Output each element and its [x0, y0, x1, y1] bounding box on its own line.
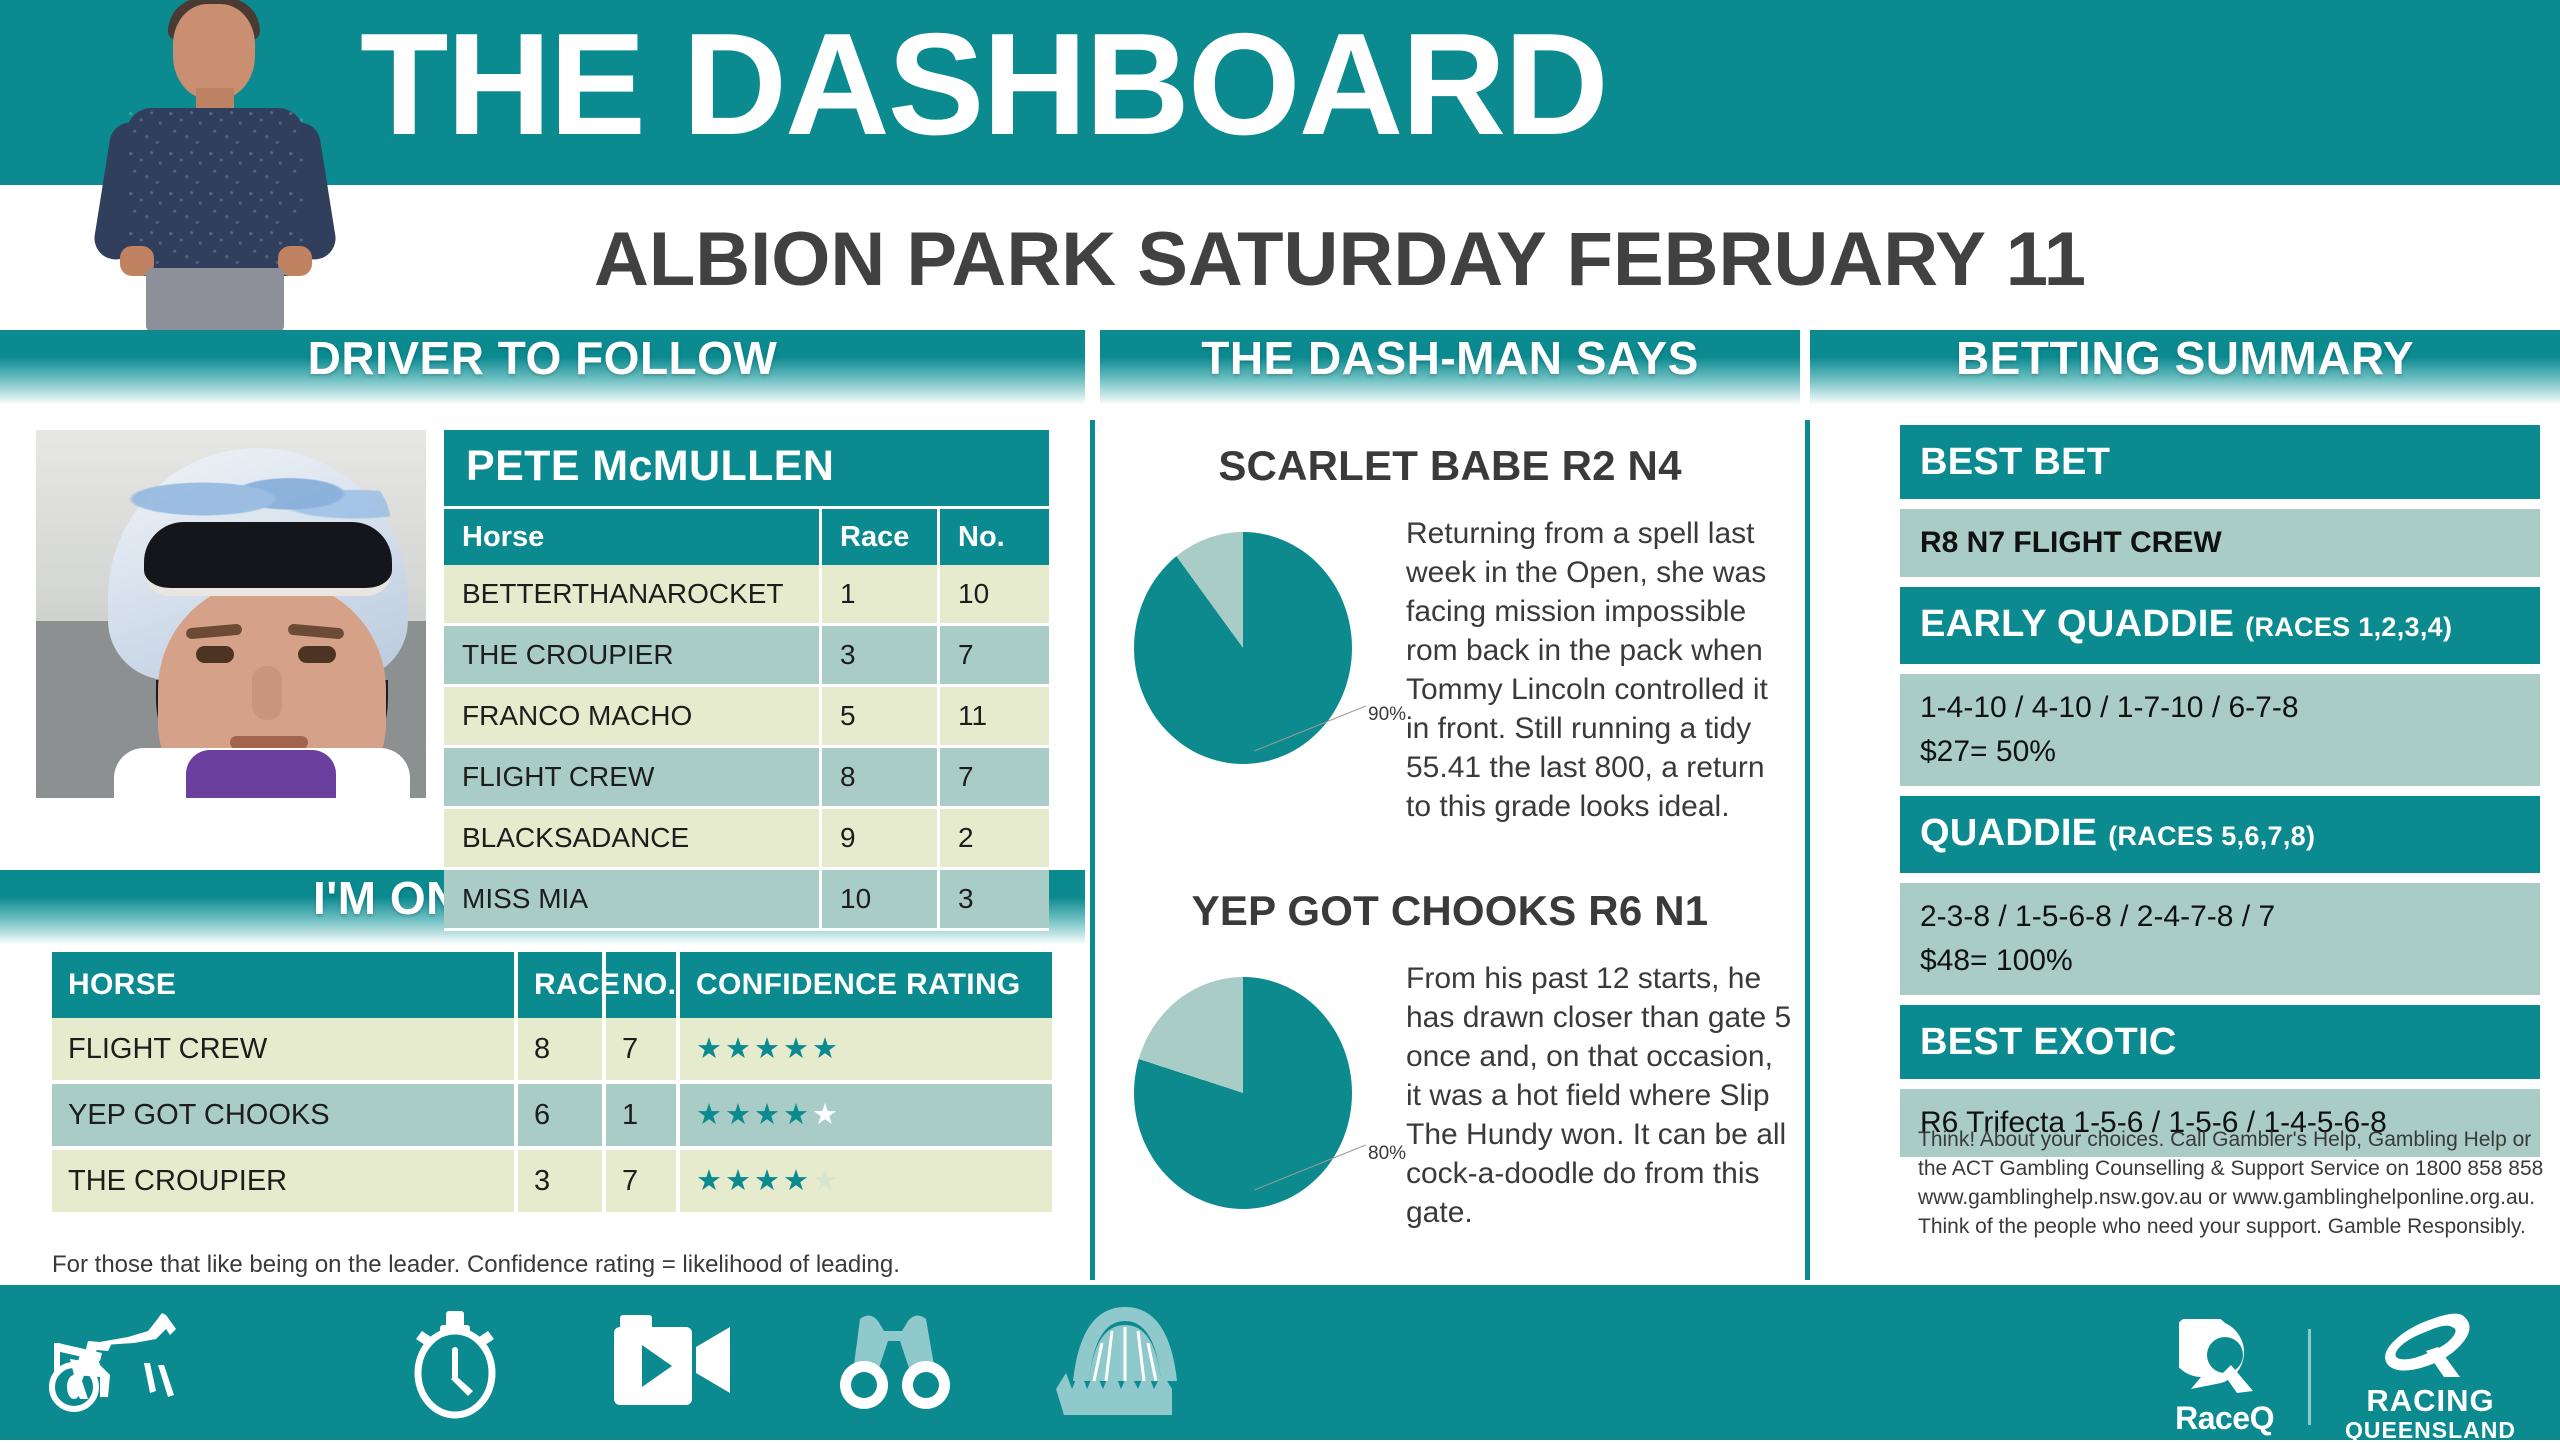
driver-table: PETE McMULLEN Horse Race No. BETTERTHANA…	[444, 430, 1049, 931]
cell-horse: FLIGHT CREW	[444, 748, 819, 809]
betting-list: BEST BET R8 N7 FLIGHT CREW EARLY QUADDIE…	[1900, 425, 2540, 1157]
cell-horse: BLACKSADANCE	[444, 809, 819, 870]
table-row: YEP GOT CHOOKS 6 1 ★★★★★	[52, 1084, 1052, 1150]
pie-percent-label: 90%	[1368, 704, 1406, 726]
footer-logos: RaceQ RACING QUEENSLAND	[2175, 1311, 2516, 1443]
driver-col-no: No.	[937, 509, 1049, 565]
racing-label: RACING	[2366, 1385, 2494, 1417]
tip-title: SCARLET BABE R2 N4	[1100, 440, 1800, 492]
cell-no: 3	[937, 870, 1049, 931]
best-exotic-heading: BEST EXOTIC	[1900, 1005, 2540, 1079]
table-row: FLIGHT CREW 8 7 ★★★★★	[52, 1018, 1052, 1084]
confidence-stars: ★★★★★	[676, 1018, 1052, 1084]
table-row: MISS MIA 10 3	[444, 870, 1049, 931]
dashboard-page: THE DASHBOARD ALBION PARK SATURDAY FEBRU…	[0, 0, 2560, 1440]
early-quaddie-races: (RACES 1,2,3,4)	[2245, 612, 2452, 642]
pie-chart-scarlet-babe: 90%	[1100, 514, 1400, 784]
pie-slice-group	[1134, 532, 1352, 764]
spacer	[1900, 499, 2540, 509]
harness-horse-icon[interactable]	[48, 1307, 208, 1422]
spacer	[1900, 786, 2540, 796]
driver-table-header: Horse Race No.	[444, 506, 1049, 565]
early-quaddie-value: 1-4-10 / 4-10 / 1-7-10 / 6-7-8 $27= 50%	[1900, 674, 2540, 786]
logo-divider	[2308, 1329, 2311, 1425]
presenter-head	[173, 4, 255, 100]
racing-queensland-logo[interactable]: RACING QUEENSLAND	[2345, 1311, 2516, 1443]
cell-race: 9	[819, 809, 937, 870]
queensland-label: QUEENSLAND	[2345, 1417, 2516, 1443]
cell-horse: FLIGHT CREW	[52, 1018, 514, 1084]
driver-col-race: Race	[819, 509, 937, 565]
leader-col-confidence: CONFIDENCE RATING	[676, 952, 1052, 1018]
cell-race: 3	[819, 626, 937, 687]
driver-silks	[186, 750, 336, 798]
cell-horse: FRANCO MACHO	[444, 687, 819, 748]
cell-race: 1	[819, 565, 937, 626]
spacer	[1900, 1079, 2540, 1089]
tip-body: 90% Returning from a spell last week in …	[1100, 514, 1800, 826]
cell-horse: BETTERTHANAROCKET	[444, 565, 819, 626]
early-quaddie-label: EARLY QUADDIE	[1920, 603, 2234, 645]
driver-nose	[252, 666, 282, 720]
cell-horse: MISS MIA	[444, 870, 819, 931]
tip-body: 80% From his past 12 starts, he has draw…	[1100, 959, 1800, 1232]
left-column: PETE McMULLEN Horse Race No. BETTERTHANA…	[0, 330, 1085, 1280]
pie-chart-yep-got-chooks: 80%	[1100, 959, 1400, 1229]
table-row: BETTERTHANAROCKET 1 10	[444, 565, 1049, 626]
grandstand-icon[interactable]	[1050, 1303, 1200, 1424]
raceq-label: RaceQ	[2175, 1401, 2274, 1435]
cell-race: 10	[819, 870, 937, 931]
early-quaddie-line2: $27= 50%	[1920, 730, 2540, 774]
leader-col-horse: HORSE	[52, 952, 514, 1018]
betting-summary-column: BEST BET R8 N7 FLIGHT CREW EARLY QUADDIE…	[1900, 330, 2560, 1280]
spacer	[1900, 995, 2540, 1005]
masthead: THE DASHBOARD	[0, 0, 2560, 185]
presenter-legs	[146, 268, 284, 330]
cell-no: 10	[937, 565, 1049, 626]
stopwatch-icon[interactable]	[400, 1307, 510, 1424]
leader-note: For those that like being on the leader.…	[52, 1248, 1052, 1282]
driver-name: PETE McMULLEN	[444, 430, 1049, 506]
cell-no: 7	[937, 748, 1049, 809]
tip-block-2: YEP GOT CHOOKS R6 N1 80% From his past 1…	[1100, 885, 1800, 1232]
footer-bar: RaceQ RACING QUEENSLAND	[0, 1285, 2560, 1440]
tip-block-1: SCARLET BABE R2 N4 90% Returning from a …	[1100, 440, 1800, 826]
confidence-stars: ★★★★★	[676, 1084, 1052, 1150]
driver-col-horse: Horse	[444, 509, 819, 565]
cell-race: 8	[514, 1018, 602, 1084]
cell-no: 7	[602, 1150, 676, 1216]
pie-slice-group	[1134, 977, 1352, 1209]
leader-col-no: NO.	[602, 952, 676, 1018]
column-divider-right	[1805, 420, 1810, 1280]
spacer	[1900, 664, 2540, 674]
cell-horse: THE CROUPIER	[52, 1150, 514, 1216]
binoculars-icon[interactable]	[830, 1313, 960, 1418]
quaddie-value: 2-3-8 / 1-5-6-8 / 2-4-7-8 / 7 $48= 100%	[1900, 883, 2540, 995]
presenter-torso	[126, 108, 304, 276]
spacer	[1900, 577, 2540, 587]
best-bet-value: R8 N7 FLIGHT CREW	[1900, 509, 2540, 577]
quaddie-label: QUADDIE	[1920, 812, 2097, 854]
quaddie-line1: 2-3-8 / 1-5-6-8 / 2-4-7-8 / 7	[1920, 895, 2540, 939]
cell-race: 5	[819, 687, 937, 748]
quaddie-races: (RACES 5,6,7,8)	[2108, 821, 2315, 851]
cell-race: 3	[514, 1150, 602, 1216]
leader-table-header: HORSE RACE NO. CONFIDENCE RATING	[52, 952, 1052, 1018]
responsible-gambling-disclaimer: Think! About your choices. Call Gambler'…	[1900, 1125, 2560, 1241]
table-row: FLIGHT CREW 8 7	[444, 748, 1049, 809]
cell-no: 7	[602, 1018, 676, 1084]
cell-race: 8	[819, 748, 937, 809]
cell-no: 11	[937, 687, 1049, 748]
table-row: THE CROUPIER 3 7	[444, 626, 1049, 687]
cell-horse: YEP GOT CHOOKS	[52, 1084, 514, 1150]
quaddie-heading: QUADDIE (RACES 5,6,7,8)	[1900, 796, 2540, 873]
driver-photo	[36, 430, 426, 798]
page-title: THE DASHBOARD	[360, 0, 2360, 177]
best-bet-heading: BEST BET	[1900, 425, 2540, 499]
driver-eye-left	[196, 646, 234, 663]
table-row: THE CROUPIER 3 7 ★★★★★	[52, 1150, 1052, 1216]
cell-race: 6	[514, 1084, 602, 1150]
subtitle-bar: ALBION PARK SATURDAY FEBRUARY 11	[0, 185, 2560, 330]
leader-col-race: RACE	[514, 952, 602, 1018]
cell-horse: THE CROUPIER	[444, 626, 819, 687]
spacer	[1900, 873, 2540, 883]
meeting-subtitle: ALBION PARK SATURDAY FEBRUARY 11	[0, 185, 2560, 330]
tip-text: Returning from a spell last week in the …	[1400, 514, 1800, 826]
cell-no: 1	[602, 1084, 676, 1150]
early-quaddie-line1: 1-4-10 / 4-10 / 1-7-10 / 6-7-8	[1920, 686, 2540, 730]
driver-eye-right	[298, 646, 336, 663]
quaddie-line2: $48= 100%	[1920, 939, 2540, 983]
leader-table: HORSE RACE NO. CONFIDENCE RATING FLIGHT …	[52, 952, 1052, 1216]
column-divider-left	[1090, 420, 1095, 1280]
cell-no: 7	[937, 626, 1049, 687]
tip-text: From his past 12 starts, he has drawn cl…	[1400, 959, 1800, 1232]
cell-no: 2	[937, 809, 1049, 870]
early-quaddie-heading: EARLY QUADDIE (RACES 1,2,3,4)	[1900, 587, 2540, 664]
table-row: BLACKSADANCE 9 2	[444, 809, 1049, 870]
presenter-photo	[68, 0, 358, 330]
tip-title: YEP GOT CHOOKS R6 N1	[1100, 885, 1800, 937]
pie-percent-label: 80%	[1368, 1143, 1406, 1165]
confidence-stars: ★★★★★	[676, 1150, 1052, 1216]
table-row: FRANCO MACHO 5 11	[444, 687, 1049, 748]
dash-man-column: SCARLET BABE R2 N4 90% Returning from a …	[1100, 330, 1800, 1280]
video-camera-icon[interactable]	[610, 1315, 740, 1416]
driver-visor	[144, 522, 392, 596]
raceq-logo[interactable]: RaceQ	[2175, 1319, 2274, 1435]
